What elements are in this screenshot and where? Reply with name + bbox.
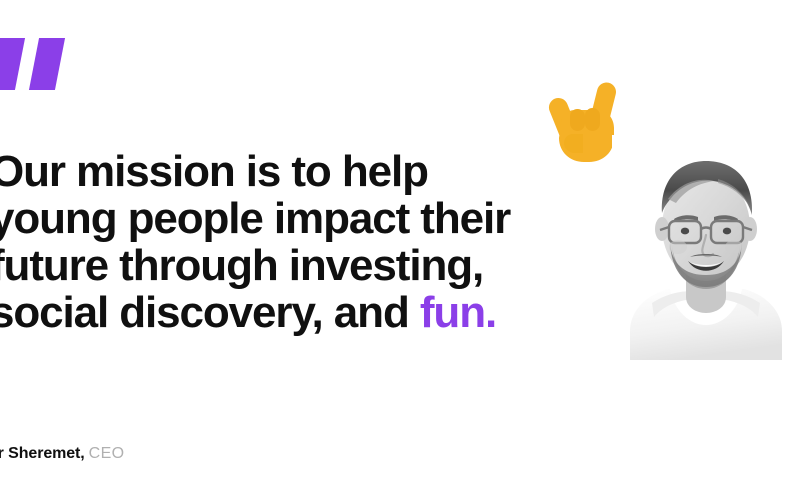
attribution-person-name: or Sheremet,: [0, 445, 85, 462]
quote-line-1-text: Our mission is to help: [0, 147, 428, 196]
quote-slash-left: [0, 38, 25, 90]
quote-line-3: future through investing,: [0, 242, 630, 289]
quote-headline: Our mission is to help young people impa…: [0, 148, 630, 336]
quote-line-4: social discovery, and fun.: [0, 289, 630, 336]
quote-hero-banner: Our mission is to help young people impa…: [0, 0, 800, 500]
attribution-person-role: CEO: [89, 445, 125, 462]
double-slash-quote-icon: [0, 38, 84, 90]
quote-line-3-text: future through investing,: [0, 241, 483, 290]
quote-line-2: young people impact their: [0, 195, 630, 242]
quote-accent-word: fun.: [420, 288, 496, 337]
ceo-portrait-photo: [612, 135, 800, 360]
quote-line-2-text: young people impact their: [0, 194, 510, 243]
quote-slash-right: [29, 38, 65, 90]
attribution: or Sheremet,CEO: [0, 443, 125, 465]
quote-line-4-text: social discovery, and: [0, 288, 420, 337]
